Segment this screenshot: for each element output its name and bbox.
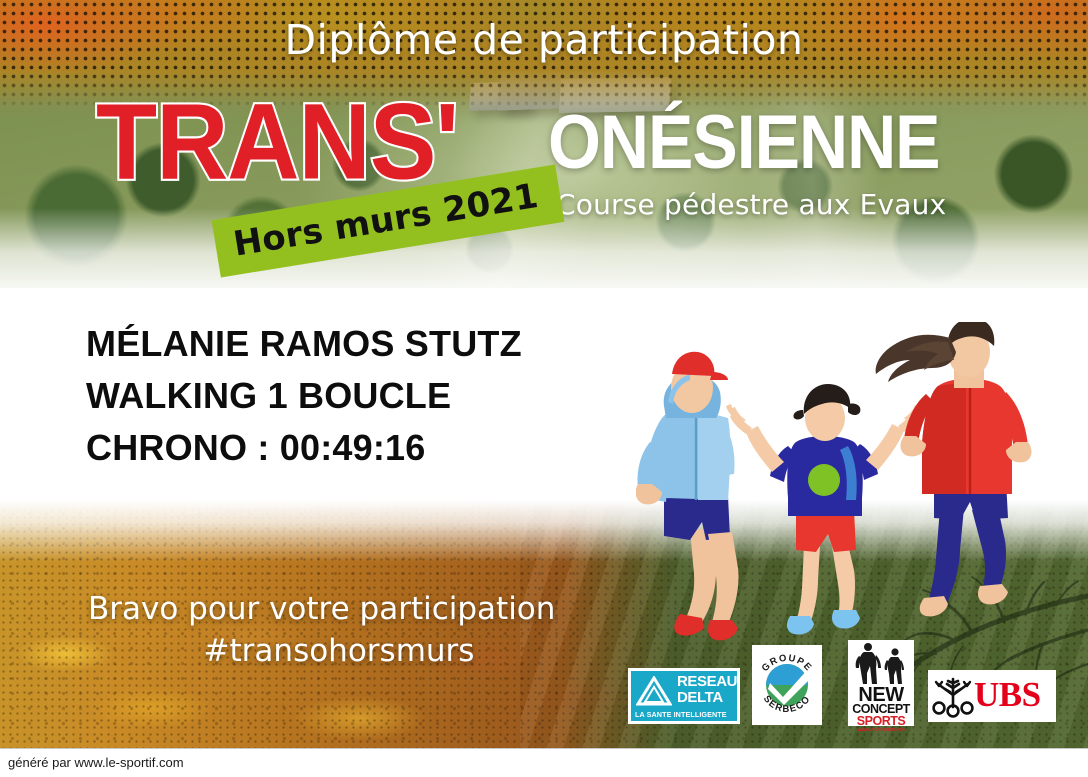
bravo-line-1: Bravo pour votre participation xyxy=(82,588,622,630)
sponsor-reseau-delta-logo: RESEAU DELTA LA SANTE INTELLIGENTE xyxy=(628,668,740,724)
participant-chrono: CHRONO : 00:49:16 xyxy=(86,422,522,474)
participant-category: WALKING 1 BOUCLE xyxy=(86,370,522,422)
logo-onesienne-text: ONÉSIENNE xyxy=(548,104,940,180)
ubs-wordmark: UBS xyxy=(974,677,1041,712)
delta-line-2: DELTA xyxy=(677,690,737,706)
delta-tagline: LA SANTE INTELLIGENTE xyxy=(635,710,727,719)
congratulation-message: Bravo pour votre participation #transoho… xyxy=(82,588,622,672)
new-concept-line-3: SPORTS xyxy=(848,714,914,728)
logo-subtitle: Course pédestre aux Evaux xyxy=(556,188,946,221)
page-title: Diplôme de participation xyxy=(0,16,1088,64)
runner-silhouettes-icon xyxy=(848,642,914,686)
participant-info: MÉLANIE RAMOS STUTZ WALKING 1 BOUCLE CHR… xyxy=(86,318,522,474)
delta-wordmark: RESEAU DELTA xyxy=(677,674,737,705)
new-concept-url: WWW.NCSPORTS.CH xyxy=(848,727,914,732)
runner-left-hooded xyxy=(636,352,739,641)
sponsor-new-concept-sports-logo: NEW CONCEPT SPORTS WWW.NCSPORTS.CH xyxy=(848,640,914,726)
logo-trans-text: TRANS' xyxy=(96,88,458,196)
sponsor-ubs-logo: UBS xyxy=(928,670,1056,722)
delta-line-1: RESEAU xyxy=(677,674,737,690)
sponsor-groupe-serbeco-logo: GROUPE SERBECO xyxy=(752,645,822,725)
ubs-three-keys-icon xyxy=(932,675,974,719)
sponsor-logos: RESEAU DELTA LA SANTE INTELLIGENTE GROUP… xyxy=(628,640,1068,728)
generated-by-text: généré par www.le-sportif.com xyxy=(8,755,184,770)
runners-illustration xyxy=(636,322,1066,642)
delta-triangle-icon xyxy=(636,676,672,706)
runner-right-woman xyxy=(876,322,1032,616)
bravo-hashtag: #transohorsmurs xyxy=(82,630,622,672)
serbeco-mark: GROUPE SERBECO xyxy=(752,645,822,725)
participation-certificate: Diplôme de participation TRANS' ONÉSIENN… xyxy=(0,0,1088,777)
footer-bar: généré par www.le-sportif.com xyxy=(0,748,1088,777)
runner-center-child xyxy=(726,384,924,635)
participant-name: MÉLANIE RAMOS STUTZ xyxy=(86,318,522,370)
